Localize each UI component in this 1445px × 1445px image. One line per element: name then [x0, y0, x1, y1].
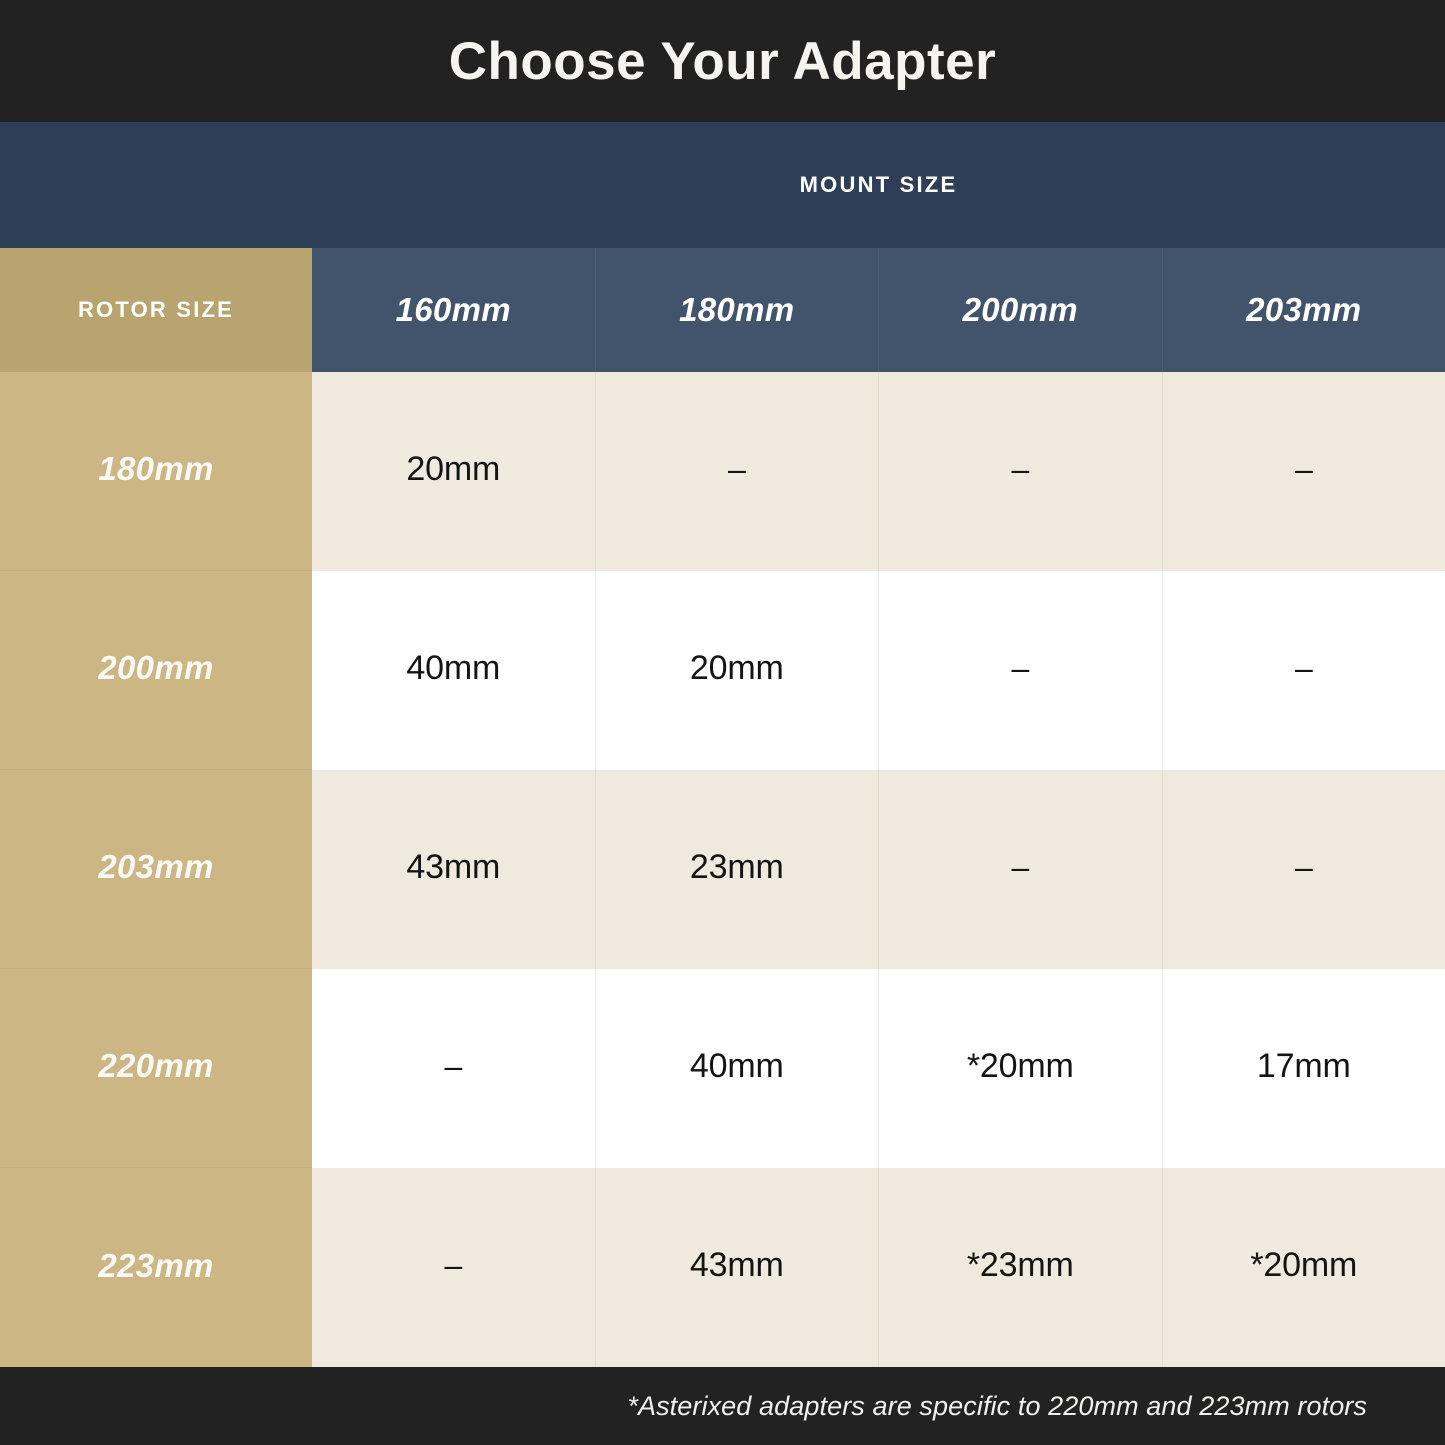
footer-bar: *Asterixed adapters are specific to 220m…: [0, 1367, 1445, 1445]
row-header-label: 203mm: [98, 848, 213, 886]
cell-value: –: [1295, 650, 1313, 687]
column-header-200mm: 200mm: [879, 248, 1163, 372]
cell-value: 17mm: [1257, 1047, 1351, 1086]
column-header-203mm: 203mm: [1163, 248, 1445, 372]
cell-value: *23mm: [967, 1246, 1074, 1285]
column-header-label: 203mm: [1246, 291, 1361, 329]
cell-value: 43mm: [690, 1246, 784, 1285]
mount-size-band: MOUNT SIZE: [0, 122, 1445, 248]
cell-value: –: [728, 451, 746, 488]
table-header-row: ROTOR SIZE 160mm 180mm 200mm 203mm: [0, 248, 1445, 372]
row-header-label: 223mm: [98, 1247, 213, 1285]
cell-200mm-180mm: 20mm: [596, 571, 880, 770]
footnote-text: *Asterixed adapters are specific to 220m…: [627, 1391, 1445, 1422]
row-cells: 40mm 20mm – –: [312, 571, 1445, 770]
cell-220mm-180mm: 40mm: [596, 969, 880, 1168]
rotor-size-label: ROTOR SIZE: [78, 297, 234, 323]
cell-180mm-200mm: –: [879, 372, 1163, 571]
cell-200mm-160mm: 40mm: [312, 571, 596, 770]
cell-180mm-203mm: –: [1163, 372, 1445, 571]
row-header-180mm: 180mm: [0, 372, 312, 571]
page-title: Choose Your Adapter: [449, 35, 996, 88]
row-header-label: 220mm: [98, 1047, 213, 1085]
cell-value: 40mm: [406, 649, 500, 688]
cell-220mm-200mm: *20mm: [879, 969, 1163, 1168]
table-row: 220mm – 40mm *20mm 17mm: [0, 969, 1445, 1168]
adapter-size-chart: Choose Your Adapter MOUNT SIZE ROTOR SIZ…: [0, 0, 1445, 1445]
cell-203mm-200mm: –: [879, 770, 1163, 969]
column-header-label: 200mm: [963, 291, 1078, 329]
cell-203mm-160mm: 43mm: [312, 770, 596, 969]
cell-203mm-180mm: 23mm: [596, 770, 880, 969]
row-header-223mm: 223mm: [0, 1168, 312, 1367]
cell-203mm-203mm: –: [1163, 770, 1445, 969]
row-cells: – 40mm *20mm 17mm: [312, 969, 1445, 1168]
mount-size-header-cells: 160mm 180mm 200mm 203mm: [312, 248, 1445, 372]
cell-value: 40mm: [690, 1047, 784, 1086]
cell-value: –: [444, 1247, 462, 1284]
cell-223mm-160mm: –: [312, 1168, 596, 1367]
table-row: 200mm 40mm 20mm – –: [0, 571, 1445, 770]
cell-value: –: [1295, 849, 1313, 886]
row-header-label: 200mm: [98, 649, 213, 687]
cell-value: 20mm: [406, 450, 500, 489]
rotor-size-header-cell: ROTOR SIZE: [0, 248, 312, 372]
cell-value: 43mm: [406, 848, 500, 887]
cell-value: *20mm: [967, 1047, 1074, 1086]
cell-180mm-160mm: 20mm: [312, 372, 596, 571]
title-bar: Choose Your Adapter: [0, 0, 1445, 122]
cell-value: 23mm: [690, 848, 784, 887]
row-cells: – 43mm *23mm *20mm: [312, 1168, 1445, 1367]
cell-value: –: [444, 1048, 462, 1085]
table-row: 180mm 20mm – – –: [0, 372, 1445, 571]
column-header-160mm: 160mm: [312, 248, 596, 372]
cell-value: –: [1011, 451, 1029, 488]
cell-200mm-200mm: –: [879, 571, 1163, 770]
mount-size-label: MOUNT SIZE: [0, 172, 1445, 198]
cell-200mm-203mm: –: [1163, 571, 1445, 770]
column-header-180mm: 180mm: [596, 248, 880, 372]
row-header-label: 180mm: [98, 450, 213, 488]
row-header-203mm: 203mm: [0, 770, 312, 969]
cell-223mm-200mm: *23mm: [879, 1168, 1163, 1367]
cell-value: –: [1011, 650, 1029, 687]
cell-220mm-203mm: 17mm: [1163, 969, 1445, 1168]
column-header-label: 160mm: [396, 291, 511, 329]
cell-value: –: [1295, 451, 1313, 488]
cell-223mm-180mm: 43mm: [596, 1168, 880, 1367]
cell-value: –: [1011, 849, 1029, 886]
cell-223mm-203mm: *20mm: [1163, 1168, 1445, 1367]
row-cells: 20mm – – –: [312, 372, 1445, 571]
cell-value: 20mm: [690, 649, 784, 688]
row-cells: 43mm 23mm – –: [312, 770, 1445, 969]
cell-220mm-160mm: –: [312, 969, 596, 1168]
table-body: 180mm 20mm – – – 200mm 40mm 20mm – – 203…: [0, 372, 1445, 1367]
row-header-200mm: 200mm: [0, 571, 312, 770]
cell-180mm-180mm: –: [596, 372, 880, 571]
column-header-label: 180mm: [679, 291, 794, 329]
row-header-220mm: 220mm: [0, 969, 312, 1168]
cell-value: *20mm: [1250, 1246, 1357, 1285]
table-row: 223mm – 43mm *23mm *20mm: [0, 1168, 1445, 1367]
table-row: 203mm 43mm 23mm – –: [0, 770, 1445, 969]
